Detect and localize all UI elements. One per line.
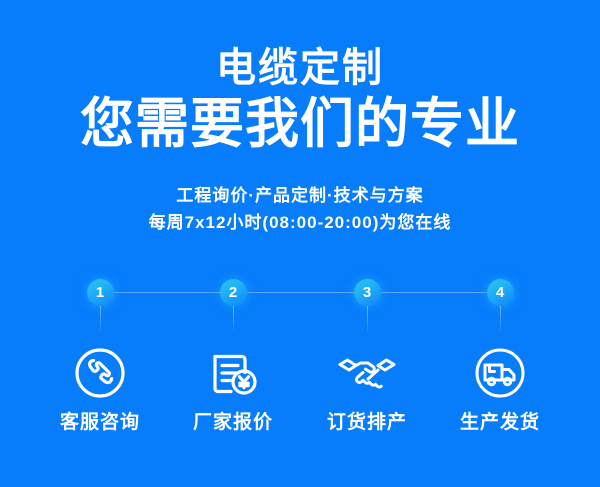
subtitle-block: 工程询价·产品定制·技术与方案 每周7x12小时(08:00-20:00)为您在… (0, 182, 600, 236)
step-item-4[interactable]: 4 生产发货 (433, 268, 567, 306)
step-label-3: 订货排产 (300, 410, 434, 436)
step-badge-1: 1 (87, 279, 114, 306)
subtitle-line-2: 每周7x12小时(08:00-20:00)为您在线 (0, 209, 600, 236)
step-item-3[interactable]: 3 订货排产 (300, 268, 434, 306)
delivery-truck-icon (469, 342, 531, 404)
subtitle-line-1: 工程询价·产品定制·技术与方案 (0, 182, 600, 209)
document-yen-icon (202, 342, 264, 404)
step-stem-4 (500, 306, 501, 332)
step-number-2: 2 (220, 279, 247, 306)
step-stem-3 (367, 306, 368, 332)
headline-line-1: 电缆定制 (0, 44, 600, 92)
step-item-2[interactable]: 2 厂家报价 (166, 268, 300, 306)
step-number-3: 3 (354, 279, 381, 306)
step-number-1: 1 (87, 279, 114, 306)
step-item-1[interactable]: 1 客服咨询 (33, 268, 167, 306)
headline-line-2: 您需要我们的专业 (0, 92, 600, 156)
step-badge-4: 4 (487, 279, 514, 306)
headline-block: 电缆定制 您需要我们的专业 (0, 44, 600, 156)
step-stem-1 (100, 306, 101, 332)
handshake-icon (336, 342, 398, 404)
step-stem-2 (233, 306, 234, 332)
step-badge-3: 3 (354, 279, 381, 306)
step-label-1: 客服咨询 (33, 410, 167, 436)
step-number-4: 4 (487, 279, 514, 306)
step-badge-2: 2 (220, 279, 247, 306)
step-label-4: 生产发货 (433, 410, 567, 436)
step-label-2: 厂家报价 (166, 410, 300, 436)
phone-icon (69, 342, 131, 404)
promo-banner: 电缆定制 您需要我们的专业 工程询价·产品定制·技术与方案 每周7x12小时(0… (0, 0, 600, 487)
process-steps: 1 客服咨询 2 (0, 268, 600, 458)
